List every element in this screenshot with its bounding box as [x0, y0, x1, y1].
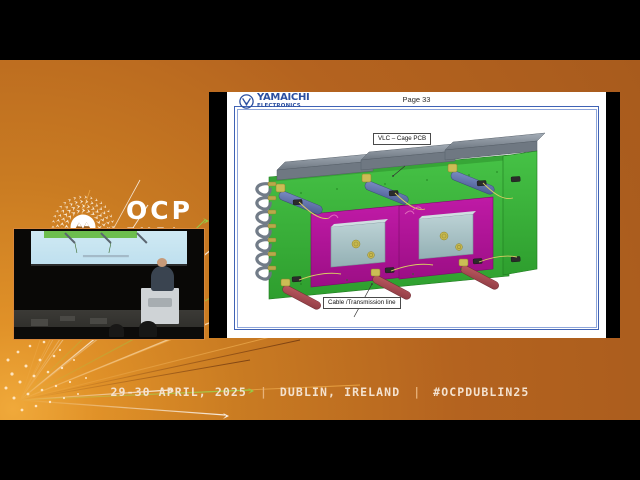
speaker-head — [157, 258, 167, 267]
audience-silhouette — [109, 324, 124, 337]
event-info-bar: 29-30 APRIL, 2025 | DUBLIN, IRELAND | #O… — [0, 381, 640, 403]
podium — [141, 288, 179, 323]
presentation-slide-panel[interactable]: YAMAICHI ELECTRONICS Page 33 — [209, 92, 620, 338]
callout-vlc-cage-pcb: VLC – Cage PCB — [373, 133, 431, 145]
callout-cable-transmission-line: Cable /Transmission line — [323, 297, 401, 309]
letterbox-bar-bottom — [0, 420, 640, 480]
event-location: DUBLIN, IRELAND — [280, 385, 400, 399]
podium-logo — [148, 298, 172, 307]
screen-capture-root: OCP EMEA SUMMIT 29-30 APRIL, 2025 | DUBL… — [0, 0, 640, 480]
info-separator-2: | — [413, 385, 420, 399]
event-dates: 29-30 APRIL, 2025 — [111, 385, 247, 399]
logo-text-ocp: OCP — [126, 198, 193, 223]
stage-seat — [31, 319, 48, 326]
audience-silhouette — [139, 321, 156, 336]
event-hashtag: #OCPDUBLIN25 — [433, 385, 529, 399]
vendor-subtitle: ELECTRONICS — [257, 104, 309, 109]
info-separator-1: | — [260, 385, 267, 399]
stage-seat — [60, 316, 75, 322]
speaker-video-inset[interactable] — [13, 228, 205, 340]
speaker-figure — [151, 266, 174, 290]
slide-page-number: Page 33 — [227, 95, 606, 104]
slide-canvas: YAMAICHI ELECTRONICS Page 33 — [227, 92, 606, 338]
letterbox-bar-top — [0, 0, 640, 60]
stage-scene — [14, 229, 204, 339]
stage-seat — [90, 318, 107, 324]
cad-assembly-diagram — [237, 114, 596, 329]
